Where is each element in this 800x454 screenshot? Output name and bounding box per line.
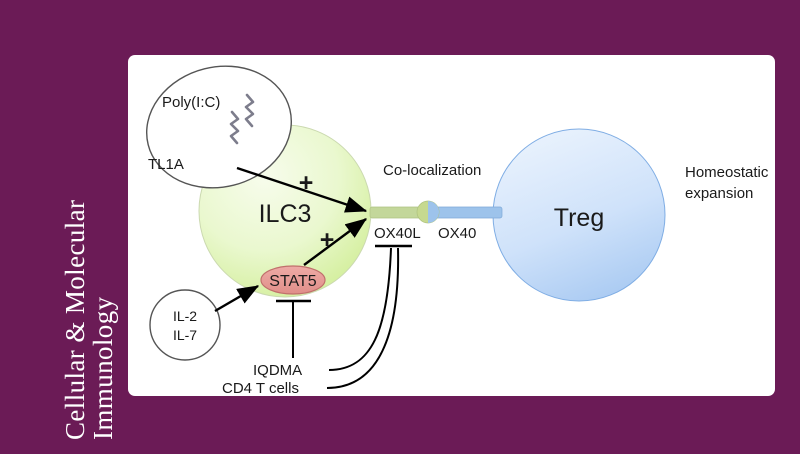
plus-sign-lower: + [320,226,335,254]
polyic-label: Poly(I:C) [162,94,220,111]
il7-label: IL-7 [173,327,197,343]
ox40l-label: OX40L [374,225,421,242]
outcome-line-2: expansion [685,185,753,202]
plus-sign-upper: + [299,169,314,197]
tl1a-label: TL1A [148,156,184,173]
outcome-line-1: Homeostatic [685,164,769,181]
pathway-diagram: ILC3 Treg OX40L OX40 Co-localization Pol… [0,0,800,454]
il2-label: IL-2 [173,308,197,324]
cd4-t-cells-label: CD4 T cells [222,380,299,397]
ox40-label: OX40 [438,225,476,242]
knob-receptor-half [428,201,439,223]
iqdma-inhibits-stat5 [276,301,311,358]
ilc3-label: ILC3 [259,200,312,228]
treg-label: Treg [554,204,604,232]
cytokine-bubble [150,290,220,360]
cytokine-to-stat5-arrow [215,286,258,311]
stat5-label: STAT5 [269,273,317,290]
iqdma-label: IQDMA [253,362,302,379]
screenshot-root: Cellular & Molecular Immunology [0,0,800,454]
colocalization-label: Co-localization [383,162,481,179]
